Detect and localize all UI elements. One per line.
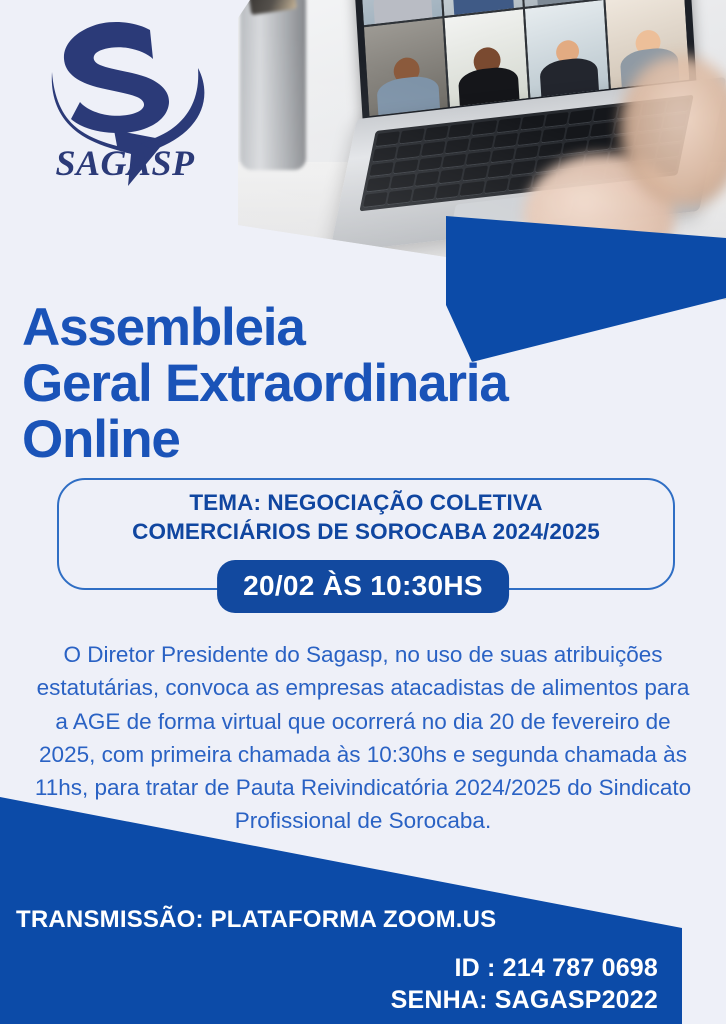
sagasp-wordmark: SAGASP (30, 142, 220, 184)
tema-line-2: COMERCIÁRIOS DE SOROCABA 2024/2025 (57, 517, 675, 546)
meeting-credentials: ID : 214 787 0698 SENHA: SAGASP2022 (0, 952, 658, 1016)
tema-line-1: TEMA: NEGOCIAÇÃO COLETIVA (57, 488, 675, 517)
title-line-3: Online (22, 412, 662, 468)
event-poster: SAGASP Assembleia Geral Extraordinaria O… (0, 0, 726, 1024)
date-badge: 20/02 ÀS 10:30HS (217, 560, 509, 613)
tema-text: TEMA: NEGOCIAÇÃO COLETIVA COMERCIÁRIOS D… (57, 488, 675, 547)
page-title: Assembleia Geral Extraordinaria Online (22, 300, 662, 469)
body-paragraph: O Diretor Presidente do Sagasp, no uso d… (28, 638, 698, 838)
title-line-2: Geral Extraordinaria (22, 356, 662, 412)
title-line-1: Assembleia (22, 300, 662, 356)
sagasp-logo: SAGASP (30, 14, 220, 194)
transmission-label: TRANSMISSÃO: PLATAFORMA ZOOM.US (16, 906, 496, 934)
meeting-id: ID : 214 787 0698 (0, 952, 658, 984)
meeting-password: SENHA: SAGASP2022 (0, 984, 658, 1016)
